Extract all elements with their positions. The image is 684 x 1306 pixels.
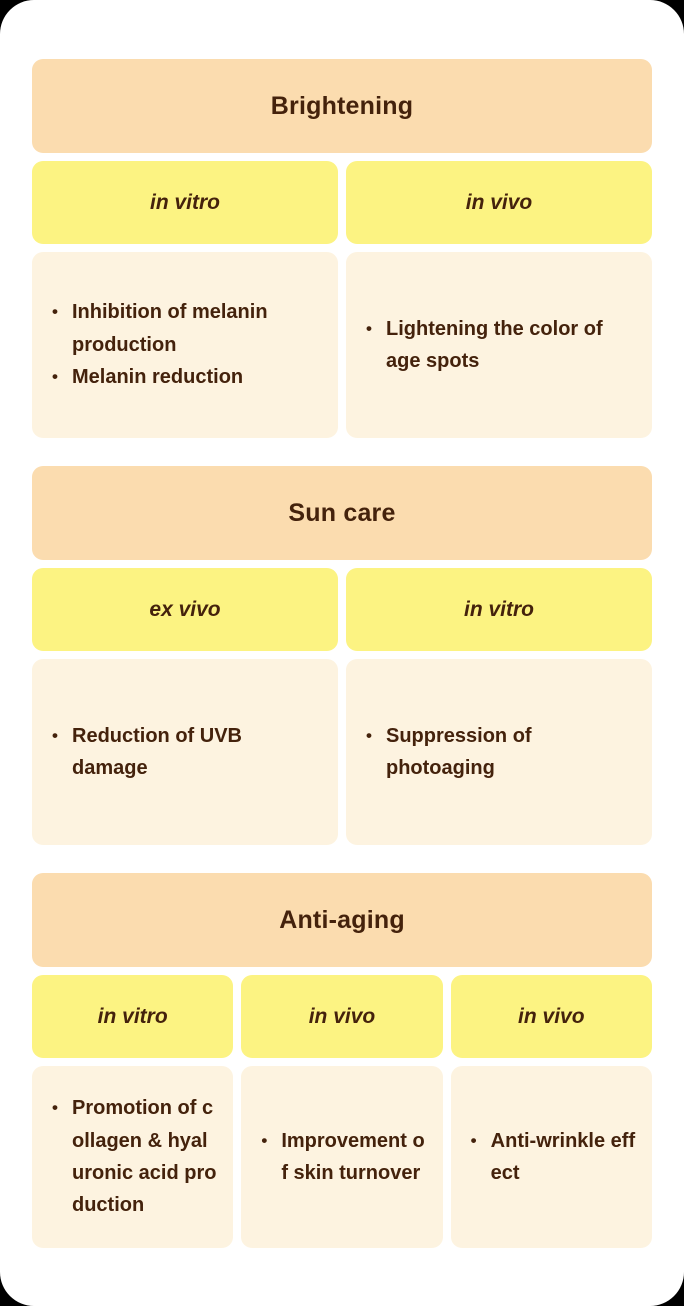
list-item: Melanin reduction [48, 361, 322, 393]
content-row-sun-care: Reduction of UVB damage Suppression of p… [32, 659, 652, 845]
section-title-anti-aging: Anti-aging [32, 873, 652, 967]
method-row-brightening: in vitro in vivo [32, 161, 652, 244]
bullet-list: Improvement of skin turnover [257, 1125, 426, 1190]
bullet-list: Lightening the color of age spots [362, 313, 636, 378]
list-item: Improvement of skin turnover [257, 1125, 426, 1190]
method-row-anti-aging: in vitro in vivo in vivo [32, 975, 652, 1058]
list-item: Suppression of photoaging [362, 720, 636, 785]
content-cell: Suppression of photoaging [346, 659, 652, 845]
content-row-brightening: Inhibition of melanin production Melanin… [32, 252, 652, 438]
content-cell: Anti-wrinkle effect [451, 1066, 652, 1248]
bullet-list: Inhibition of melanin production Melanin… [48, 296, 322, 393]
content-cell: Reduction of UVB damage [32, 659, 338, 845]
list-item: Inhibition of melanin production [48, 296, 322, 361]
bullet-list: Promotion of collagen & hyaluronic acid … [48, 1092, 217, 1222]
method-label-in-vitro[interactable]: in vitro [32, 975, 233, 1058]
list-item: Promotion of collagen & hyaluronic acid … [48, 1092, 217, 1222]
method-label-in-vivo[interactable]: in vivo [241, 975, 442, 1058]
section-sun-care: Sun care ex vivo in vitro Reduction of U… [32, 466, 652, 845]
content-cell: Promotion of collagen & hyaluronic acid … [32, 1066, 233, 1248]
bullet-list: Reduction of UVB damage [48, 720, 322, 785]
section-title-brightening: Brightening [32, 59, 652, 153]
infographic-page: Brightening in vitro in vivo Inhibition … [0, 0, 684, 1306]
content-cell: Improvement of skin turnover [241, 1066, 442, 1248]
method-label-ex-vivo[interactable]: ex vivo [32, 568, 338, 651]
section-brightening: Brightening in vitro in vivo Inhibition … [32, 59, 652, 438]
section-anti-aging: Anti-aging in vitro in vivo in vivo Prom… [32, 873, 652, 1248]
method-row-sun-care: ex vivo in vitro [32, 568, 652, 651]
list-item: Lightening the color of age spots [362, 313, 636, 378]
method-label-in-vitro[interactable]: in vitro [32, 161, 338, 244]
method-label-in-vivo[interactable]: in vivo [451, 975, 652, 1058]
content-row-anti-aging: Promotion of collagen & hyaluronic acid … [32, 1066, 652, 1248]
content-cell: Inhibition of melanin production Melanin… [32, 252, 338, 438]
method-label-in-vivo[interactable]: in vivo [346, 161, 652, 244]
section-title-sun-care: Sun care [32, 466, 652, 560]
list-item: Reduction of UVB damage [48, 720, 322, 785]
bullet-list: Suppression of photoaging [362, 720, 636, 785]
method-label-in-vitro[interactable]: in vitro [346, 568, 652, 651]
bullet-list: Anti-wrinkle effect [467, 1125, 636, 1190]
list-item: Anti-wrinkle effect [467, 1125, 636, 1190]
content-cell: Lightening the color of age spots [346, 252, 652, 438]
